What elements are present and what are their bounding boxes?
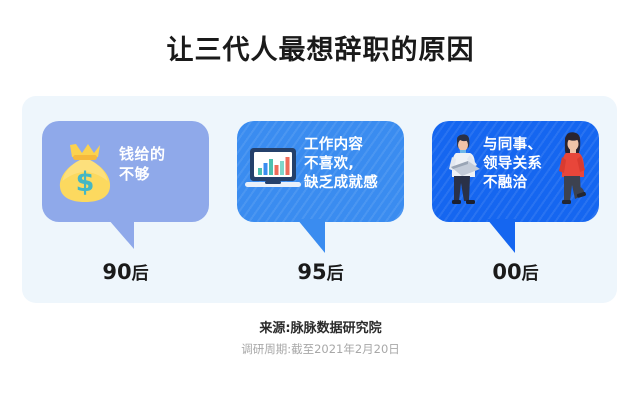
source-text: 来源:脉脉数据研究院	[0, 317, 641, 336]
reason-text: 钱给的 不够	[119, 145, 166, 184]
generation-suffix: 后	[132, 264, 149, 284]
bubble-tail	[297, 219, 325, 253]
generation-suffix: 后	[522, 264, 539, 284]
bubble-tail	[487, 219, 515, 253]
generation-label-90: 90后	[42, 259, 209, 284]
survey-period-text: 调研周期:截至2021年2月20日	[0, 341, 641, 357]
generation-number: 00	[492, 260, 521, 284]
reason-text: 工作内容 不喜欢, 缺乏成就感	[304, 136, 378, 193]
generation-suffix: 后	[327, 264, 344, 284]
generation-label-95: 95后	[237, 259, 404, 284]
reason-card-00[interactable]: 与同事、 领导关系 不融洽	[432, 121, 599, 222]
generation-number: 95	[297, 260, 326, 284]
bubble-tail	[108, 219, 134, 249]
reason-card-90[interactable]: $ 钱给的 不够	[42, 121, 209, 222]
generation-label-00: 00后	[432, 259, 599, 284]
money-bag-icon: $	[56, 140, 114, 204]
generation-number: 90	[102, 260, 131, 284]
reason-text: 与同事、 领导关系 不融洽	[483, 136, 542, 193]
coworker-male-icon	[444, 131, 484, 211]
svg-text:$: $	[76, 167, 95, 198]
laptop-chart-icon	[245, 146, 301, 194]
coworker-female-icon	[554, 129, 592, 213]
reason-card-95[interactable]: 工作内容 不喜欢, 缺乏成就感	[237, 121, 404, 222]
